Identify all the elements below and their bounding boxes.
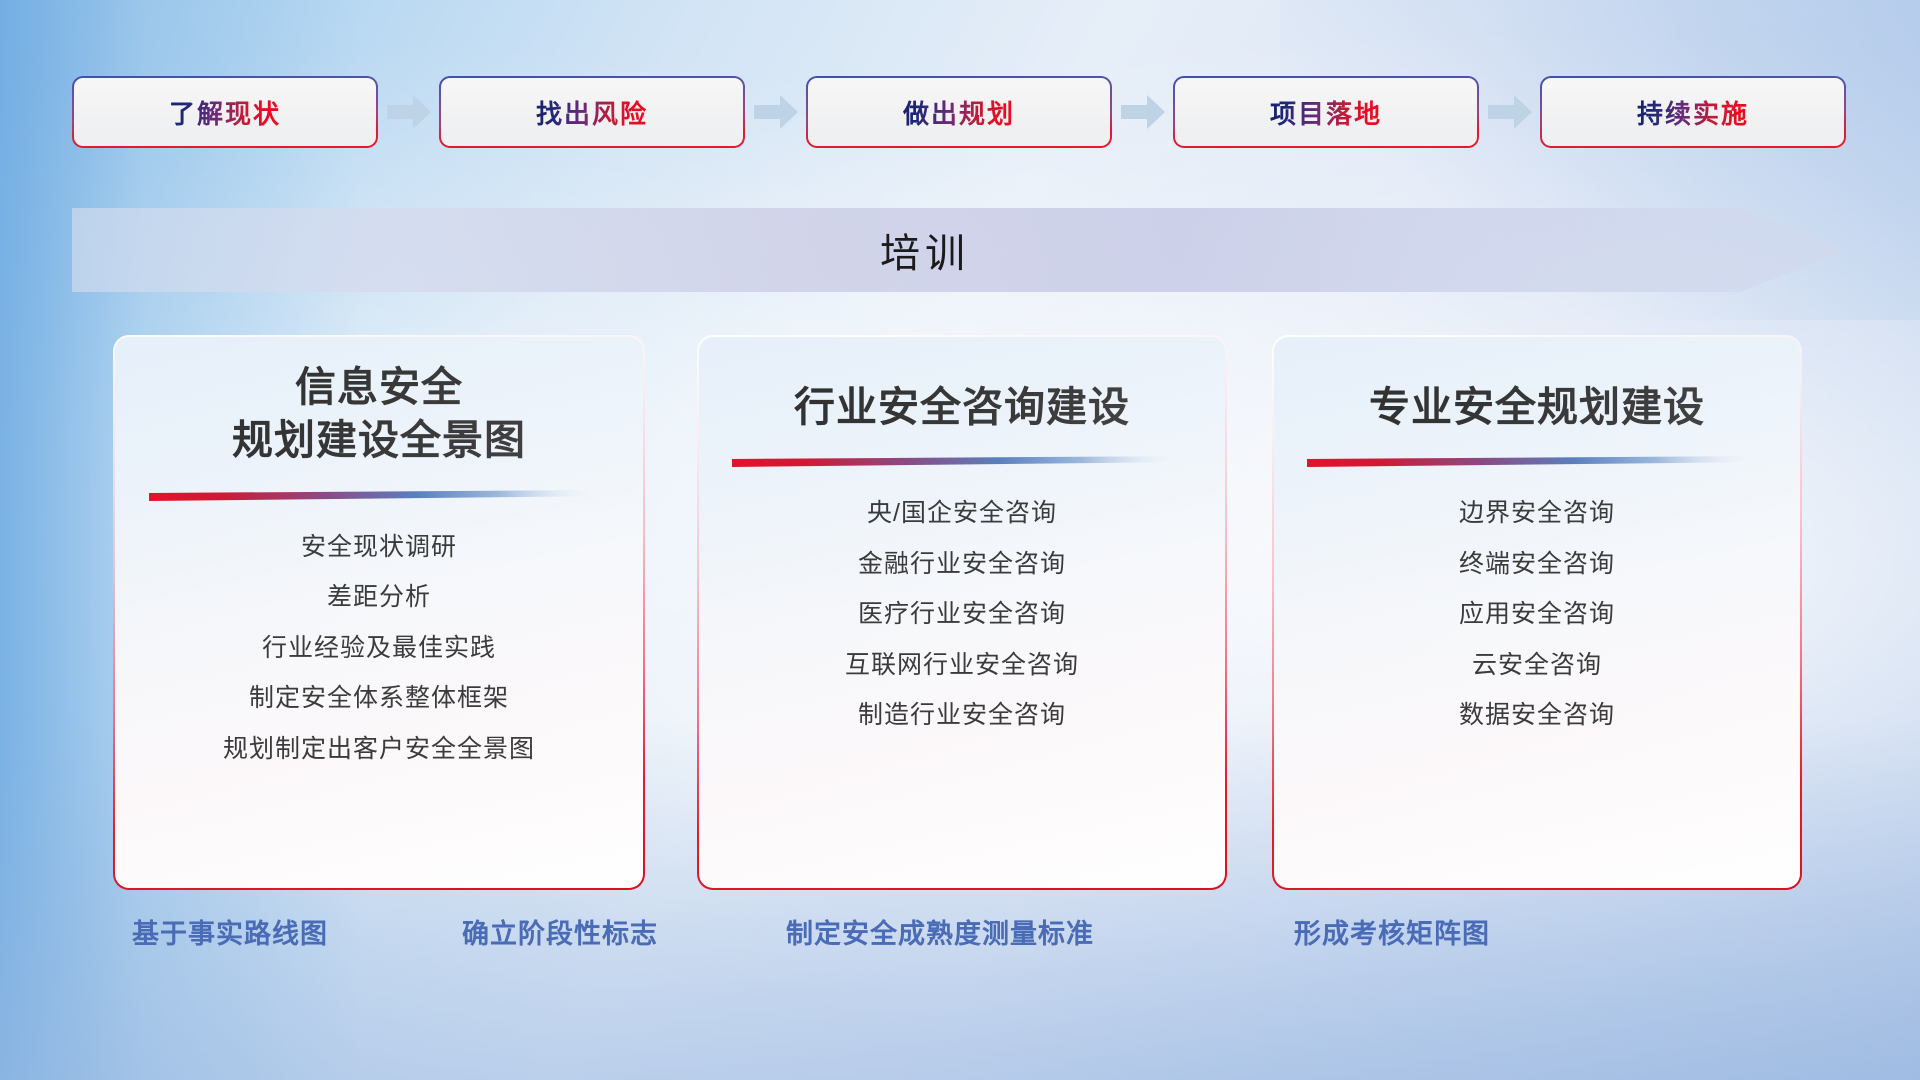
service-card-list-item: 安全现状调研 (301, 529, 457, 567)
service-card-title-0: 信息安全 规划建设全景图 (115, 361, 643, 468)
right-arrow-icon (1121, 95, 1165, 129)
service-card-0[interactable]: 信息安全 规划建设全景图安全现状调研差距分析行业经验及最佳实践制定安全体系整体框… (113, 335, 645, 890)
footer-label-3: 形成考核矩阵图 (1294, 912, 1490, 951)
service-card-list-item: 制定安全体系整体框架 (249, 680, 509, 718)
step-pill-surface-0: 了解现状 (74, 78, 376, 146)
step-pill-surface-1: 找出风险 (441, 78, 743, 146)
process-step-row: 了解现状找出风险做出规划项目落地持续实施 (72, 76, 1848, 148)
step-pill-1[interactable]: 找出风险 (439, 76, 745, 148)
service-card-1[interactable]: 行业安全咨询建设央/国企安全咨询金融行业安全咨询医疗行业安全咨询互联网行业安全咨… (697, 335, 1227, 890)
step-label-3: 项目落地 (1270, 94, 1382, 131)
step-pill-0[interactable]: 了解现状 (72, 76, 378, 148)
step-label-1: 找出风险 (536, 94, 648, 131)
step-arrow-4 (1479, 76, 1540, 148)
service-card-list-1: 央/国企安全咨询金融行业安全咨询医疗行业安全咨询互联网行业安全咨询制造行业安全咨… (699, 495, 1225, 735)
step-pill-4[interactable]: 持续实施 (1540, 76, 1846, 148)
service-card-list-item: 规划制定出客户安全全景图 (223, 731, 535, 769)
service-card-surface-0: 信息安全 规划建设全景图安全现状调研差距分析行业经验及最佳实践制定安全体系整体框… (115, 337, 643, 888)
step-label-2: 做出规划 (903, 94, 1015, 131)
service-card-list-item: 云安全咨询 (1472, 647, 1602, 685)
footer-label-row: 基于事实路线图确立阶段性标志制定安全成熟度测量标准形成考核矩阵图 (0, 912, 1920, 964)
step-arrow-2 (745, 76, 806, 148)
step-arrow-3 (1112, 76, 1173, 148)
service-card-list-item: 行业经验及最佳实践 (262, 630, 496, 668)
banner-title: 培训 (72, 200, 1848, 300)
right-arrow-icon (387, 95, 431, 129)
card-row: 信息安全 规划建设全景图安全现状调研差距分析行业经验及最佳实践制定安全体系整体框… (0, 335, 1920, 890)
service-card-list-item: 医疗行业安全咨询 (858, 596, 1066, 634)
service-card-divider-0 (149, 490, 609, 503)
service-card-list-item: 金融行业安全咨询 (858, 546, 1066, 584)
service-card-title-2: 专业安全规划建设 (1274, 381, 1800, 434)
training-banner: 培训 (72, 200, 1848, 300)
service-card-divider-2 (1307, 456, 1767, 469)
step-pill-surface-3: 项目落地 (1175, 78, 1477, 146)
service-card-list-item: 数据安全咨询 (1459, 697, 1615, 735)
step-arrow-1 (378, 76, 439, 148)
service-card-list-0: 安全现状调研差距分析行业经验及最佳实践制定安全体系整体框架规划制定出客户安全全景… (115, 529, 643, 769)
service-card-list-2: 边界安全咨询终端安全咨询应用安全咨询云安全咨询数据安全咨询 (1274, 495, 1800, 735)
service-card-list-item: 差距分析 (327, 579, 431, 617)
right-arrow-icon (1488, 95, 1532, 129)
footer-label-1: 确立阶段性标志 (462, 912, 658, 951)
service-card-surface-2: 专业安全规划建设边界安全咨询终端安全咨询应用安全咨询云安全咨询数据安全咨询 (1274, 337, 1800, 888)
service-card-list-item: 终端安全咨询 (1459, 546, 1615, 584)
step-pill-surface-2: 做出规划 (808, 78, 1110, 146)
service-card-list-item: 边界安全咨询 (1459, 495, 1615, 533)
step-label-4: 持续实施 (1637, 94, 1749, 131)
footer-label-0: 基于事实路线图 (132, 912, 328, 951)
step-pill-surface-4: 持续实施 (1542, 78, 1844, 146)
service-card-divider-1 (732, 456, 1192, 469)
service-card-list-item: 制造行业安全咨询 (858, 697, 1066, 735)
service-card-list-item: 互联网行业安全咨询 (845, 647, 1079, 685)
footer-label-2: 制定安全成熟度测量标准 (786, 912, 1094, 951)
service-card-2[interactable]: 专业安全规划建设边界安全咨询终端安全咨询应用安全咨询云安全咨询数据安全咨询 (1272, 335, 1802, 890)
right-arrow-icon (754, 95, 798, 129)
step-pill-3[interactable]: 项目落地 (1173, 76, 1479, 148)
service-card-title-1: 行业安全咨询建设 (699, 381, 1225, 434)
service-card-list-item: 央/国企安全咨询 (867, 495, 1057, 533)
service-card-surface-1: 行业安全咨询建设央/国企安全咨询金融行业安全咨询医疗行业安全咨询互联网行业安全咨… (699, 337, 1225, 888)
service-card-list-item: 应用安全咨询 (1459, 596, 1615, 634)
step-label-0: 了解现状 (169, 94, 281, 131)
step-pill-2[interactable]: 做出规划 (806, 76, 1112, 148)
